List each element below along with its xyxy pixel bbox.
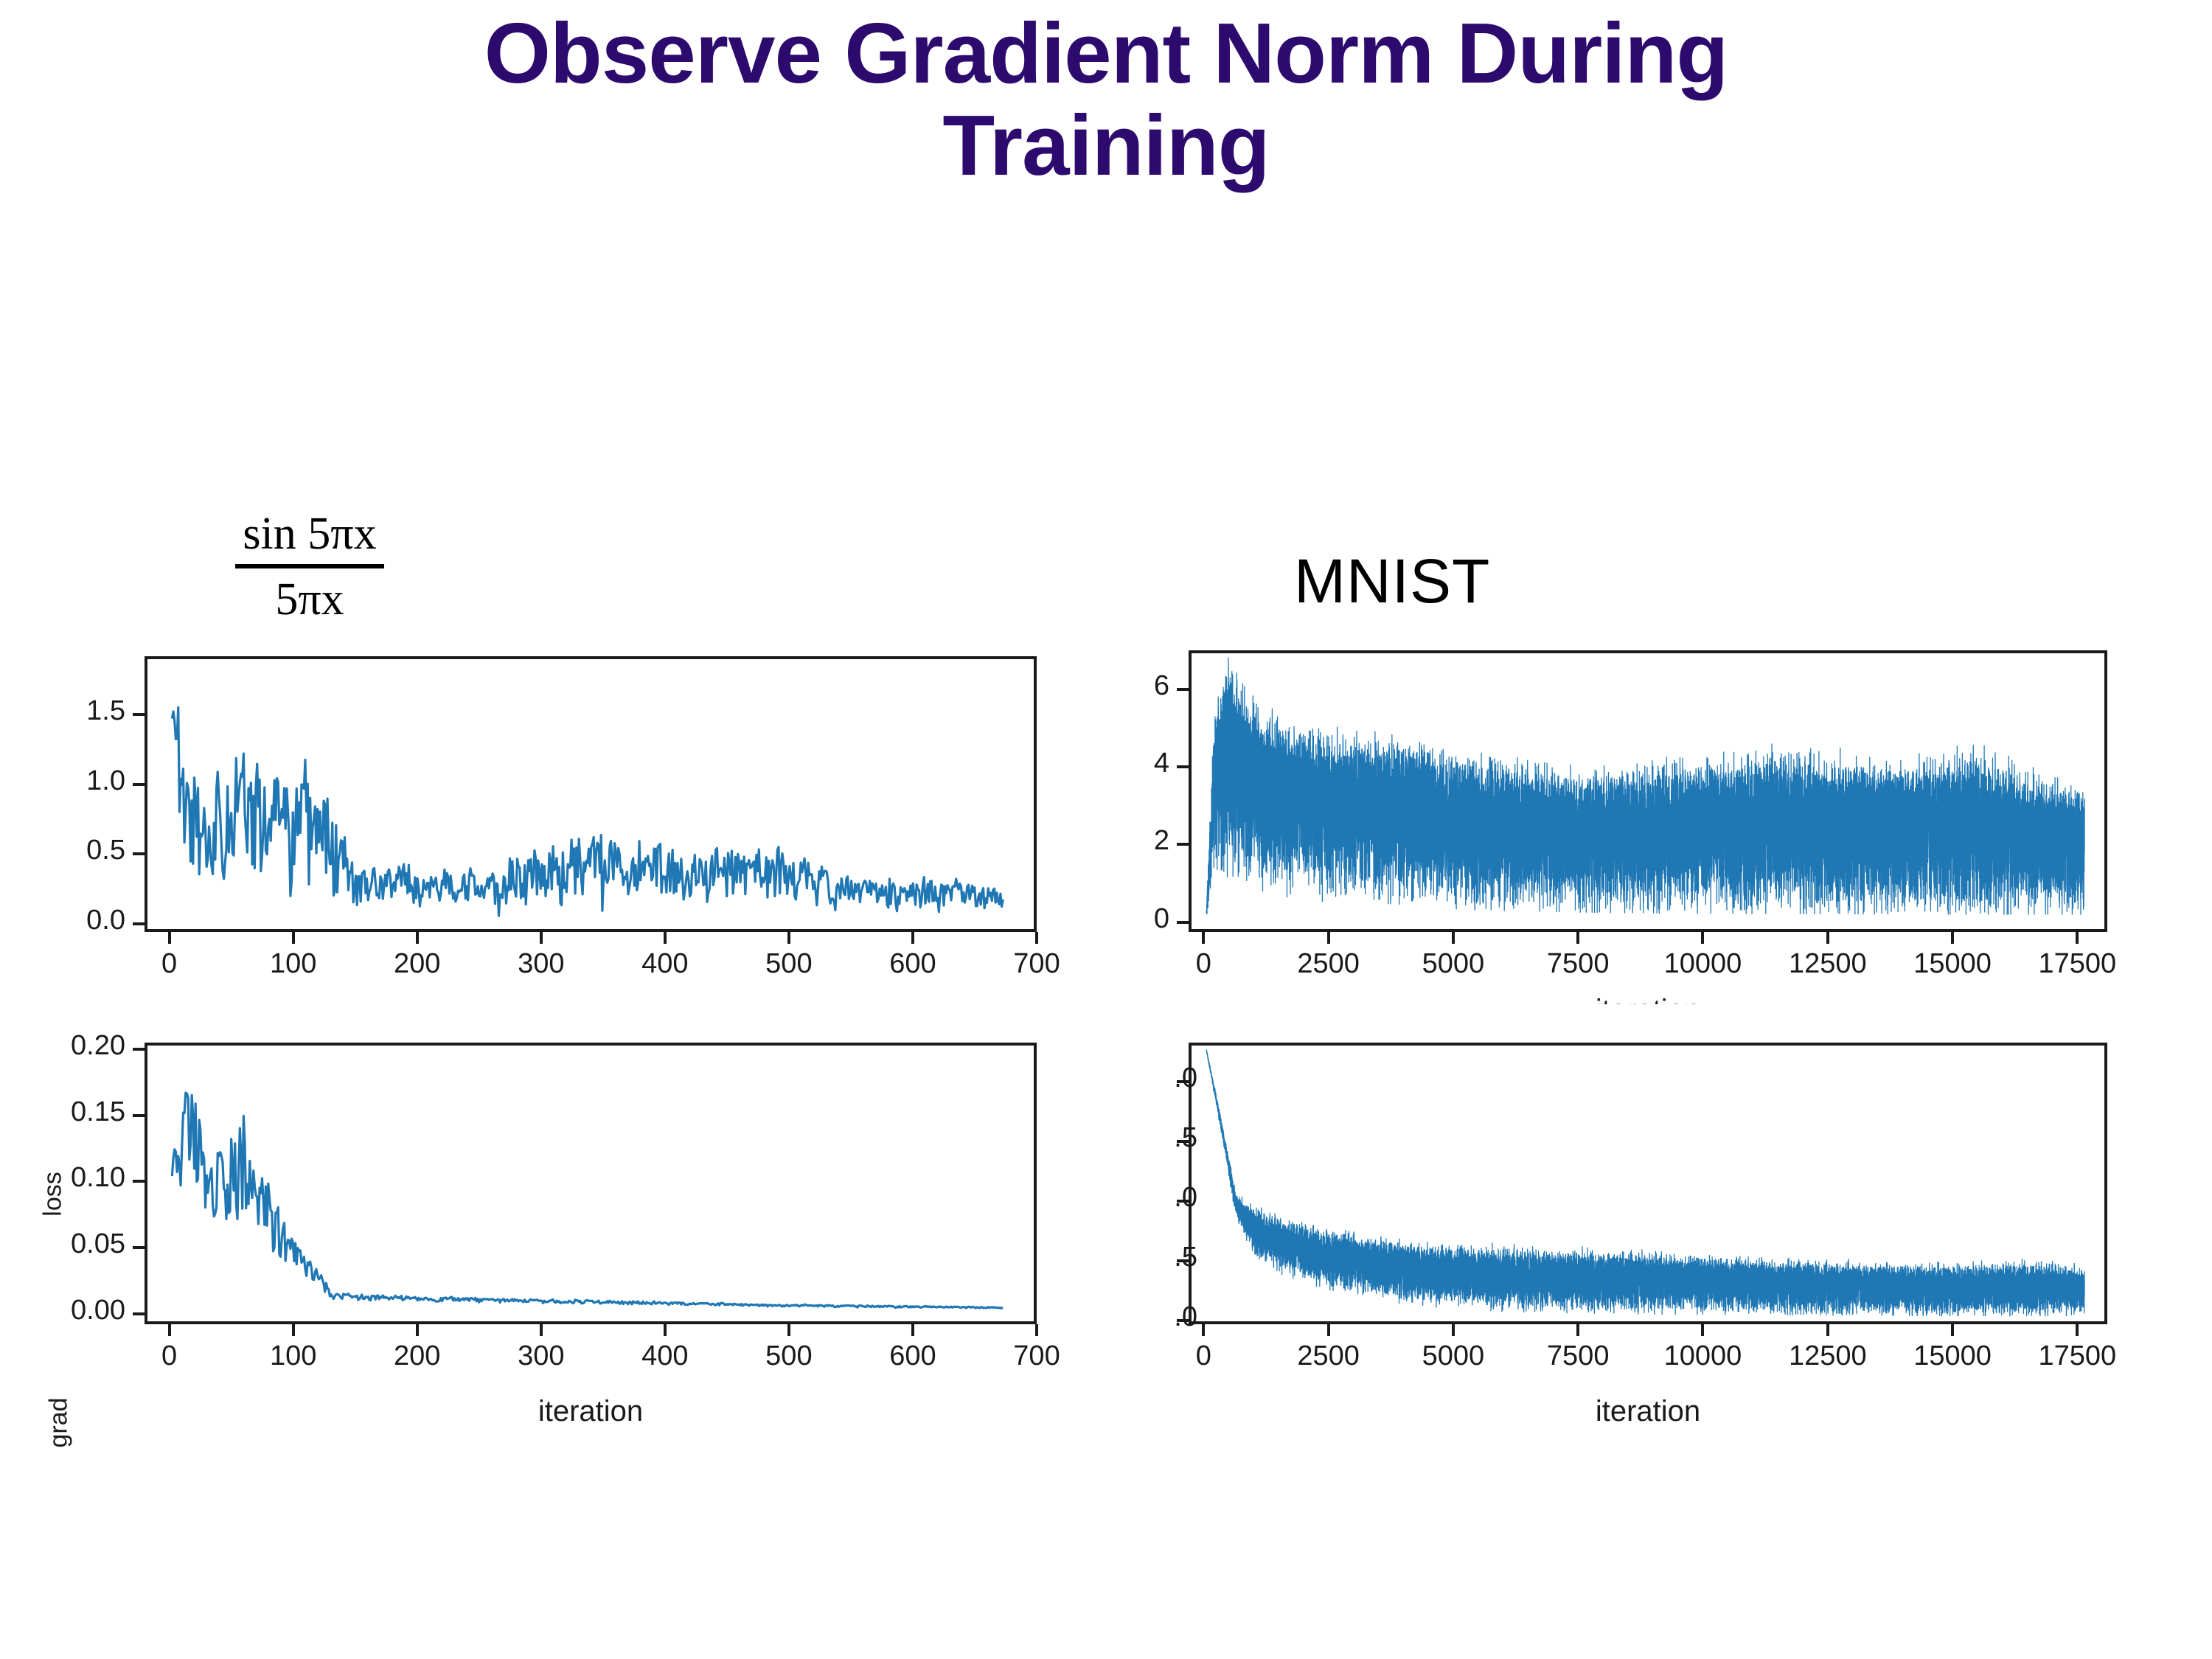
y-tick-mark xyxy=(133,1246,145,1249)
x-tick-label: 0 xyxy=(161,948,177,980)
fraction-numerator: sin 5πx xyxy=(235,509,383,563)
x-tick-label: 17500 xyxy=(2039,948,2117,980)
right-panel-caption: MNIST xyxy=(1294,546,1490,617)
x-tick-mark xyxy=(664,1324,667,1336)
y-tick-label: 0.15 xyxy=(15,1096,125,1128)
y-tick-label: 0.10 xyxy=(15,1162,125,1194)
plot-area-mnist-loss xyxy=(1189,1043,2107,1324)
x-tick-label: 200 xyxy=(394,1340,440,1372)
x-tick-mark xyxy=(1951,1324,1954,1336)
page-title: Observe Gradient Norm During Training xyxy=(317,7,1895,192)
y-tick-label: 0 xyxy=(1059,903,1169,935)
x-tick-mark xyxy=(416,1324,419,1336)
x-tick-mark xyxy=(1035,932,1038,944)
x-tick-mark xyxy=(1576,1324,1579,1336)
y-tick-mark xyxy=(133,1180,145,1183)
x-tick-label: 5000 xyxy=(1422,948,1485,980)
y-tick-label: 4 xyxy=(1059,748,1169,779)
x-tick-mark xyxy=(1826,1324,1829,1336)
x-tick-label: 0 xyxy=(1196,948,1211,980)
figure-sinc-grad: grad 0.00.51.01.50100200300400500600700 xyxy=(0,634,1077,1003)
plot-line-mnist-grad xyxy=(1192,653,2104,929)
x-tick-mark xyxy=(787,932,790,944)
x-tick-mark xyxy=(1035,1324,1038,1336)
y-tick-mark xyxy=(133,783,145,786)
x-tick-mark xyxy=(1327,932,1330,944)
x-tick-label: 2500 xyxy=(1297,948,1360,980)
x-tick-mark xyxy=(2076,1324,2079,1336)
y-tick-label: 1.5 xyxy=(15,695,125,727)
x-tick-mark xyxy=(292,932,295,944)
x-axis-label: iteration xyxy=(538,1395,643,1428)
x-tick-mark xyxy=(1452,932,1455,944)
y-tick-mark xyxy=(133,1312,145,1315)
x-tick-mark xyxy=(911,932,914,944)
y-tick-mark xyxy=(1177,921,1189,924)
x-tick-mark xyxy=(168,932,171,944)
plot-line-mnist-loss xyxy=(1192,1046,2104,1321)
x-tick-label: 700 xyxy=(1013,948,1060,980)
y-tick-mark xyxy=(133,713,145,716)
plot-line-sinc-grad xyxy=(147,659,1034,929)
y-tick-mark xyxy=(1177,688,1189,691)
x-tick-mark xyxy=(416,932,419,944)
figure-mnist-grad: 0246025005000750010000125001500017500ite… xyxy=(1091,634,2168,1003)
x-axis-label: iteration xyxy=(1596,1395,1700,1428)
x-tick-mark xyxy=(1202,1324,1205,1336)
x-tick-label: 500 xyxy=(765,948,812,980)
x-tick-label: 600 xyxy=(889,1340,936,1372)
x-tick-mark xyxy=(540,932,543,944)
y-tick-label: .0 xyxy=(1087,1301,1197,1333)
x-tick-mark xyxy=(1701,932,1704,944)
x-tick-label: 300 xyxy=(518,1340,564,1372)
plot-area-sinc-grad xyxy=(145,656,1037,932)
x-tick-mark xyxy=(292,1324,295,1336)
y-tick-label: 0.5 xyxy=(15,835,125,866)
x-tick-label: 12500 xyxy=(1789,948,1867,980)
x-tick-mark xyxy=(1327,1324,1330,1336)
x-tick-mark xyxy=(1951,932,1954,944)
x-tick-label: 5000 xyxy=(1422,1340,1485,1372)
y-tick-mark xyxy=(133,1114,145,1117)
figure-sinc-loss: loss 0.000.050.100.150.20010020030040050… xyxy=(0,1025,1077,1482)
x-tick-mark xyxy=(911,1324,914,1336)
x-tick-label: 100 xyxy=(270,1340,316,1372)
y-tick-mark xyxy=(133,852,145,855)
x-tick-mark xyxy=(2076,932,2079,944)
x-tick-label: 17500 xyxy=(2039,1340,2117,1372)
y-tick-label: .0 xyxy=(1087,1062,1197,1094)
x-tick-mark xyxy=(787,1324,790,1336)
y-tick-label: 1.0 xyxy=(15,765,125,797)
x-tick-label: 100 xyxy=(270,948,316,980)
x-tick-label: 2500 xyxy=(1297,1340,1360,1372)
y-tick-label: .5 xyxy=(1087,1242,1197,1273)
plot-area-mnist-grad xyxy=(1189,650,2107,932)
x-tick-label: 300 xyxy=(518,948,564,980)
y-tick-label: .0 xyxy=(1087,1182,1197,1214)
x-tick-mark xyxy=(1826,932,1829,944)
x-tick-mark xyxy=(540,1324,543,1336)
x-tick-label: 500 xyxy=(765,1340,812,1372)
y-tick-label: 0.05 xyxy=(15,1228,125,1260)
x-tick-label: 10000 xyxy=(1664,1340,1742,1372)
x-tick-mark xyxy=(664,932,667,944)
y-tick-mark xyxy=(1177,843,1189,846)
x-tick-mark xyxy=(168,1324,171,1336)
x-axis-label: iteration xyxy=(1596,994,1700,1004)
y-tick-label: 0.00 xyxy=(15,1295,125,1326)
x-tick-label: 400 xyxy=(641,948,688,980)
sinc-fraction: sin 5πx 5πx xyxy=(235,509,383,626)
fraction-bar xyxy=(235,564,383,568)
fraction-denominator: 5πx xyxy=(235,571,383,625)
figure-mnist-loss: .0.5.0.5.0025005000750010000125001500017… xyxy=(1091,1025,2168,1482)
x-tick-label: 12500 xyxy=(1789,1340,1867,1372)
x-tick-label: 200 xyxy=(394,948,440,980)
x-tick-label: 400 xyxy=(641,1340,688,1372)
plot-area-sinc-loss xyxy=(145,1043,1037,1324)
x-tick-label: 700 xyxy=(1013,1340,1060,1372)
y-tick-label: 2 xyxy=(1059,825,1169,857)
y-tick-label: 0.20 xyxy=(15,1030,125,1062)
y-tick-label: 0.0 xyxy=(15,905,125,936)
y-tick-label: .5 xyxy=(1087,1122,1197,1154)
x-tick-label: 7500 xyxy=(1547,1340,1610,1372)
x-tick-mark xyxy=(1452,1324,1455,1336)
x-tick-label: 7500 xyxy=(1547,948,1610,980)
y-tick-mark xyxy=(133,922,145,925)
y-tick-mark xyxy=(133,1048,145,1051)
x-tick-label: 0 xyxy=(161,1340,177,1372)
x-tick-label: 600 xyxy=(889,948,936,980)
x-tick-mark xyxy=(1701,1324,1704,1336)
x-tick-label: 15000 xyxy=(1913,948,1992,980)
x-tick-label: 10000 xyxy=(1664,948,1742,980)
x-tick-label: 0 xyxy=(1196,1340,1211,1372)
plot-line-sinc-loss xyxy=(147,1046,1034,1321)
y-tick-label: 6 xyxy=(1059,670,1169,702)
x-tick-mark xyxy=(1202,932,1205,944)
y-tick-mark xyxy=(1177,765,1189,768)
left-panel-caption: sin 5πx 5πx xyxy=(177,509,442,626)
x-tick-mark xyxy=(1576,932,1579,944)
x-tick-label: 15000 xyxy=(1913,1340,1992,1372)
